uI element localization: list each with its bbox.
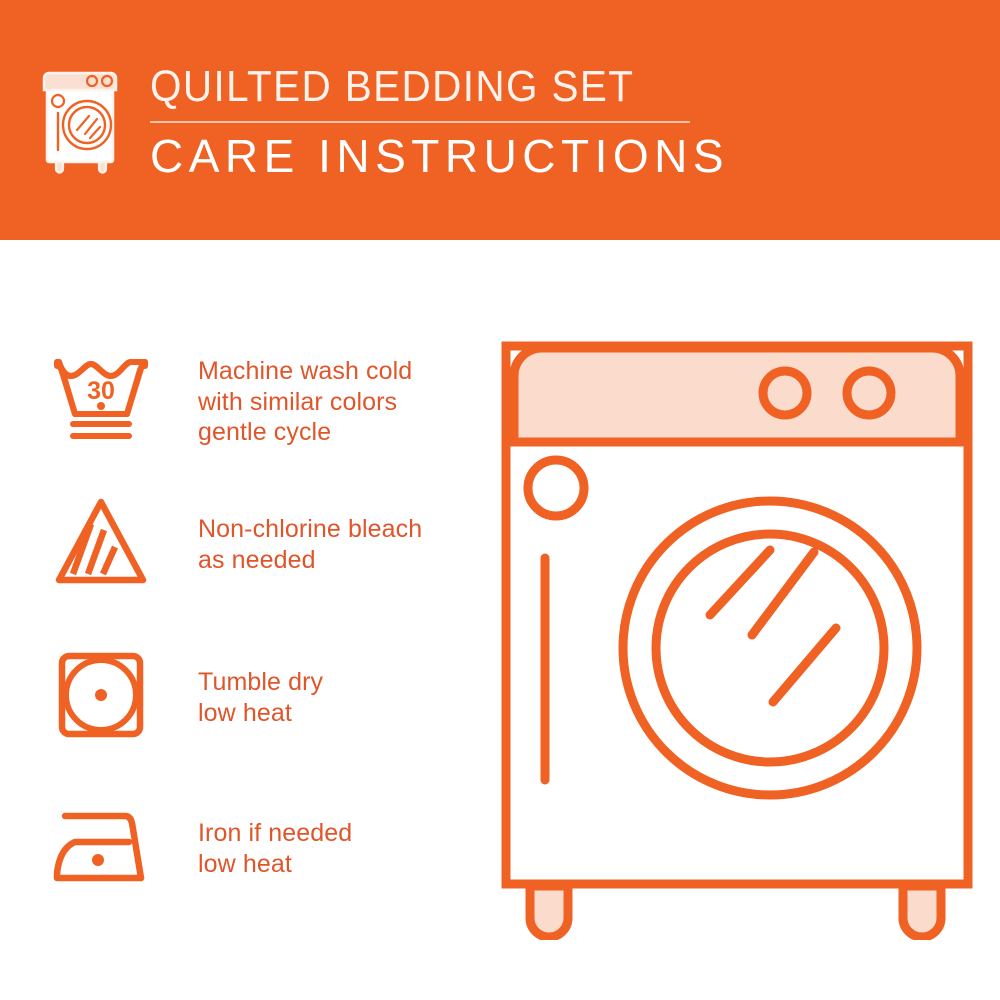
front-load-washing-machine-icon [492,330,982,940]
care-row: Non-chlorine bleach as needed [48,492,478,592]
care-text-line: Iron if needed [198,818,352,849]
page-title: QUILTED BEDDING SET [150,62,683,112]
care-row: 30 Machine wash cold with similar colors… [48,352,478,452]
care-row: Iron if needed low heat [48,796,478,896]
care-text-line: as needed [198,545,422,576]
washing-machine-illustration [492,330,982,940]
care-symbol [48,645,154,745]
heat-dot-icon [92,854,104,866]
gentle-bar-icon [70,421,132,427]
non-chlorine-bleach-triangle-icon [51,494,151,590]
care-instructions-list: 30 Machine wash cold with similar colors… [0,240,470,1000]
care-symbol [48,492,154,592]
heat-dot-icon [95,689,107,701]
care-symbol [48,796,154,896]
care-text-line: with similar colors [198,387,412,418]
header-titles: QUILTED BEDDING SET CARE INSTRUCTIONS [150,62,729,183]
care-row: Tumble dry low heat [48,645,478,745]
leg-left [530,886,568,937]
care-text: Machine wash cold with similar colors ge… [198,352,412,448]
knob-right[interactable] [847,371,891,415]
leg-right [903,886,941,937]
care-text-line: Machine wash cold [198,356,412,387]
care-symbol: 30 [48,352,154,452]
care-text-line: gentle cycle [198,417,412,448]
heat-dot-icon [97,402,105,410]
header-band: QUILTED BEDDING SET CARE INSTRUCTIONS [0,0,1000,240]
care-text-line: Tumble dry [198,667,323,698]
care-text: Non-chlorine bleach as needed [198,492,422,575]
wash-temperature-label: 30 [87,377,115,405]
washing-machine-icon [42,68,128,174]
wash-basin-30-gentle-icon: 30 [51,354,151,450]
header-content: QUILTED BEDDING SET CARE INSTRUCTIONS [42,62,729,183]
care-text: Tumble dry low heat [198,645,323,728]
care-text-line: Non-chlorine bleach [198,514,422,545]
care-text-line: low heat [198,849,352,880]
care-instructions-infographic: QUILTED BEDDING SET CARE INSTRUCTIONS 30 [0,0,1000,1000]
care-text-line: low heat [198,698,323,729]
title-divider [150,121,690,123]
page-subtitle: CARE INSTRUCTIONS [150,129,729,183]
gentle-bar-icon [70,433,132,439]
iron-low-heat-icon [49,798,153,894]
care-text: Iron if needed low heat [198,796,352,879]
knob-left[interactable] [763,371,807,415]
tumble-dry-low-heat-icon [51,647,151,743]
